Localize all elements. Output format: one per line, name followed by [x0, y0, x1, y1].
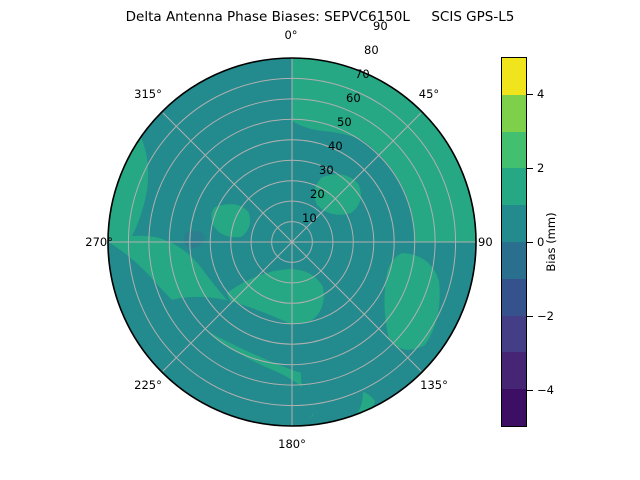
figure-title: Delta Antenna Phase Biases: SEPVC6150L S…	[0, 9, 640, 25]
colorbar-axis-label: Bias (mm)	[544, 212, 558, 271]
colorbar-band-3	[502, 279, 526, 316]
polar-axes: 10 20 30 40 50 60 70 80 90	[107, 57, 477, 427]
radial-label-30: 30	[319, 163, 334, 177]
colorbar-tick-n4	[527, 390, 533, 391]
colorbar-gradient	[501, 57, 527, 427]
figure-canvas: Delta Antenna Phase Biases: SEPVC6150L S…	[0, 0, 640, 480]
colorbar-ticklabel-n4: −4	[537, 383, 554, 397]
radial-label-70: 70	[355, 67, 370, 81]
polar-grid-spokes	[108, 58, 476, 426]
colorbar-band-8	[502, 95, 526, 132]
azimuth-label-315: 315°	[118, 87, 178, 101]
colorbar-band-2	[502, 316, 526, 353]
azimuth-label-270: 270°	[58, 235, 113, 249]
colorbar-band-9	[502, 58, 526, 95]
azimuth-label-180: 180°	[262, 437, 322, 451]
colorbar-tick-2	[527, 168, 533, 169]
azimuth-label-135: 135°	[404, 378, 464, 392]
azimuth-label-45: 45°	[404, 87, 454, 101]
colorbar-ticklabel-n2: −2	[537, 309, 554, 323]
radial-label-50: 50	[337, 115, 352, 129]
polar-plot-svg	[107, 57, 477, 427]
colorbar-band-1	[502, 352, 526, 389]
radial-label-10: 10	[302, 211, 317, 225]
radial-label-80: 80	[364, 43, 379, 57]
radial-label-40: 40	[328, 139, 343, 153]
radial-label-90: 90	[373, 19, 388, 33]
colorbar-band-4	[502, 242, 526, 279]
colorbar[interactable]: 4 2 0 −2 −4	[501, 57, 527, 427]
colorbar-ticklabel-4: 4	[537, 87, 544, 101]
azimuth-label-0: 0°	[266, 28, 316, 42]
colorbar-tick-n2	[527, 316, 533, 317]
colorbar-band-6	[502, 168, 526, 205]
azimuth-label-225: 225°	[118, 378, 178, 392]
colorbar-band-0	[502, 389, 526, 426]
colorbar-tick-4	[527, 94, 533, 95]
radial-label-20: 20	[310, 187, 325, 201]
colorbar-band-7	[502, 132, 526, 169]
radial-label-60: 60	[346, 91, 361, 105]
colorbar-band-5	[502, 205, 526, 242]
colorbar-ticklabel-2: 2	[537, 161, 544, 175]
colorbar-tick-0	[527, 242, 533, 243]
